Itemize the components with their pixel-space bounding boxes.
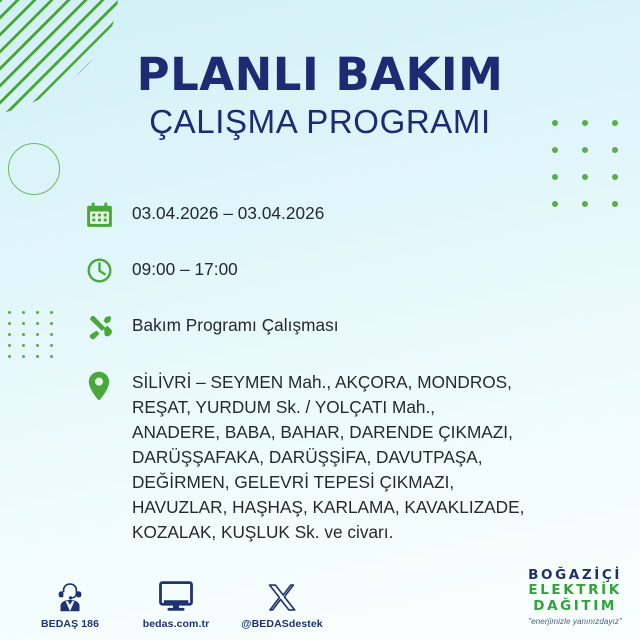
tools-icon	[86, 312, 132, 347]
circle-outline-decoration	[8, 143, 60, 195]
location-pin-icon	[86, 368, 132, 405]
page-title: PLANLI BAKIM	[0, 52, 640, 98]
logo-line-dagitim: DAĞITIM	[528, 599, 622, 615]
planned-maintenance-poster: PLANLI BAKIM ÇALIŞMA PROGRAMI	[0, 0, 640, 640]
clock-icon	[86, 256, 132, 291]
info-row-date: 03.04.2026 – 03.04.2026	[86, 200, 600, 235]
contact-item-phone[interactable]: BEDAŞ 186	[28, 578, 112, 630]
contact-label-phone: BEDAŞ 186	[41, 618, 99, 630]
logo-tagline: "enerjimizle yanınızdayız"	[528, 617, 622, 626]
contact-item-website[interactable]: bedas.com.tr	[134, 578, 218, 630]
monitor-icon	[159, 578, 193, 612]
poster-footer: BEDAŞ 186 bedas.com.tr	[0, 552, 640, 640]
maintenance-details-list: 03.04.2026 – 03.04.2026 09:00 – 17:00	[86, 200, 600, 545]
info-row-work-type: Bakım Programı Çalışması	[86, 312, 600, 347]
poster-header: PLANLI BAKIM ÇALIŞMA PROGRAMI	[0, 52, 640, 140]
footer-contact-list: BEDAŞ 186 bedas.com.tr	[28, 578, 324, 630]
bedas-logo: BOĞAZİÇİ ELEKTRİK DAĞITIM "enerjimizle y…	[528, 568, 622, 626]
call-center-agent-icon	[55, 578, 85, 612]
info-row-work-type-text: Bakım Programı Çalışması	[132, 312, 339, 335]
x-twitter-icon	[268, 578, 296, 612]
page-subtitle: ÇALIŞMA PROGRAMI	[0, 104, 640, 140]
info-row-date-text: 03.04.2026 – 03.04.2026	[132, 200, 324, 223]
info-row-location-text: SİLİVRİ – SEYMEN Mah., AKÇORA, MONDROS, …	[132, 368, 524, 545]
contact-label-website: bedas.com.tr	[143, 618, 210, 630]
contact-item-x[interactable]: @BEDASdestek	[240, 578, 324, 630]
dot-grid-decoration-left	[8, 311, 60, 365]
info-row-location: SİLİVRİ – SEYMEN Mah., AKÇORA, MONDROS, …	[86, 368, 600, 545]
calendar-icon	[86, 200, 132, 235]
logo-line-elektrik: ELEKTRİK	[528, 583, 622, 599]
contact-label-x: @BEDASdestek	[241, 618, 322, 630]
info-row-time-text: 09:00 – 17:00	[132, 256, 238, 279]
info-row-time: 09:00 – 17:00	[86, 256, 600, 291]
